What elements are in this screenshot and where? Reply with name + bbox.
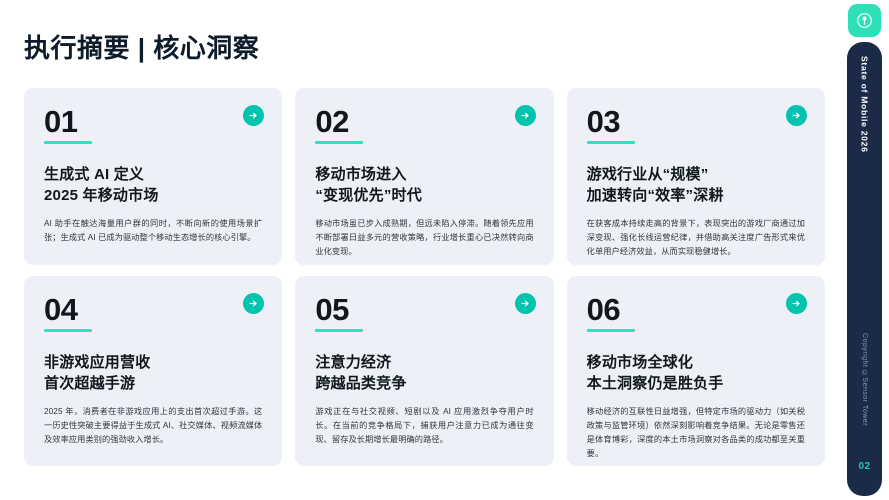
arrow-right-icon[interactable] — [515, 293, 536, 314]
card-heading-line-2: “变现优先”时代 — [315, 185, 533, 207]
card-heading: 移动市场全球化 本土洞察仍是胜负手 — [587, 352, 805, 396]
card-number-underline — [315, 141, 363, 144]
insight-card[interactable]: 04 非游戏应用营收 首次超越手游 2025 年，消费者在非游戏应用上的支出首次… — [24, 276, 282, 466]
card-body-text: 移动经济的互联性日益增强，但特定市场的驱动力（如关税政策与监管环境）依然深刻影响… — [587, 405, 805, 461]
card-heading: 游戏行业从“规模” 加速转向“效率”深耕 — [587, 164, 805, 208]
insight-card[interactable]: 02 移动市场进入 “变现优先”时代 移动市场虽已步入成熟期，但远未陷入停滞。随… — [295, 88, 553, 265]
card-heading-line-1: 移动市场进入 — [315, 164, 533, 186]
card-body-text: 在获客成本持续走高的背景下，表现突出的游戏厂商通过加深变现、强化长线运营纪律，并… — [587, 217, 805, 259]
card-heading-line-2: 加速转向“效率”深耕 — [587, 185, 805, 207]
card-heading-line-1: 生成式 AI 定义 — [44, 164, 262, 186]
card-heading-line-2: 首次超越手游 — [44, 373, 262, 395]
report-title-vertical: State of Mobile 2026 — [857, 56, 873, 206]
insight-card[interactable]: 03 游戏行业从“规模” 加速转向“效率”深耕 在获客成本持续走高的背景下，表现… — [567, 88, 825, 265]
arrow-right-icon[interactable] — [786, 293, 807, 314]
insight-card[interactable]: 05 注意力经济 跨越品类竞争 游戏正在与社交视频、短剧以及 AI 应用激烈争夺… — [295, 276, 553, 466]
card-number-underline — [587, 329, 635, 332]
card-number-block: 06 — [587, 294, 805, 332]
card-number: 02 — [315, 106, 348, 137]
card-heading: 注意力经济 跨越品类竞争 — [315, 352, 533, 396]
card-number-underline — [587, 141, 635, 144]
card-heading-line-1: 移动市场全球化 — [587, 352, 805, 374]
card-number: 06 — [587, 294, 620, 325]
card-heading: 非游戏应用营收 首次超越手游 — [44, 352, 262, 396]
card-number-underline — [44, 141, 92, 144]
card-number-block: 03 — [587, 106, 805, 144]
insight-card[interactable]: 01 生成式 AI 定义 2025 年移动市场 AI 助手在触达海量用户群的同时… — [24, 88, 282, 265]
insight-card-grid: 01 生成式 AI 定义 2025 年移动市场 AI 助手在触达海量用户群的同时… — [24, 88, 825, 466]
card-heading-line-1: 游戏行业从“规模” — [587, 164, 805, 186]
card-number: 05 — [315, 294, 348, 325]
card-heading-line-2: 本土洞察仍是胜负手 — [587, 373, 805, 395]
sensor-tower-logo-icon — [848, 4, 881, 37]
card-heading: 生成式 AI 定义 2025 年移动市场 — [44, 164, 262, 208]
report-title-text: State of Mobile 2026 — [860, 56, 870, 153]
copyright-text: Copyright ©Sensor Tower — [861, 333, 868, 426]
card-number: 03 — [587, 106, 620, 137]
copyright-vertical: Copyright ©Sensor Tower — [861, 333, 868, 426]
right-sidebar: State of Mobile 2026 Copyright ©Sensor T… — [840, 0, 889, 500]
card-body-text: 移动市场虽已步入成熟期，但远未陷入停滞。随着领先应用不断部署日益多元的营收策略，… — [315, 217, 533, 259]
card-body-text: AI 助手在触达海量用户群的同时，不断向新的使用场景扩张；生成式 AI 已成为驱… — [44, 217, 262, 245]
card-number-underline — [44, 329, 92, 332]
arrow-right-icon[interactable] — [515, 105, 536, 126]
card-number-block: 04 — [44, 294, 262, 332]
card-heading-line-1: 注意力经济 — [315, 352, 533, 374]
card-number: 01 — [44, 106, 77, 137]
card-heading-line-2: 跨越品类竞争 — [315, 373, 533, 395]
card-heading: 移动市场进入 “变现优先”时代 — [315, 164, 533, 208]
card-number-underline — [315, 329, 363, 332]
slide-root: 执行摘要 | 核心洞察 01 生成式 AI 定义 2025 年移动市场 AI 助… — [0, 0, 889, 500]
card-number-block: 02 — [315, 106, 533, 144]
arrow-right-icon[interactable] — [786, 105, 807, 126]
sidebar-bar: State of Mobile 2026 Copyright ©Sensor T… — [847, 42, 882, 496]
card-heading-line-2: 2025 年移动市场 — [44, 185, 262, 207]
card-body-text: 游戏正在与社交视频、短剧以及 AI 应用激烈争夺用户时长。在当前的竞争格局下，捕… — [315, 405, 533, 447]
card-heading-line-1: 非游戏应用营收 — [44, 352, 262, 374]
card-number-block: 05 — [315, 294, 533, 332]
card-number: 04 — [44, 294, 77, 325]
insight-card[interactable]: 06 移动市场全球化 本土洞察仍是胜负手 移动经济的互联性日益增强，但特定市场的… — [567, 276, 825, 466]
page-number: 02 — [847, 461, 882, 472]
card-number-block: 01 — [44, 106, 262, 144]
card-body-text: 2025 年，消费者在非游戏应用上的支出首次超过手游。这一历史性突破主要得益于生… — [44, 405, 262, 447]
page-title: 执行摘要 | 核心洞察 — [24, 28, 259, 65]
